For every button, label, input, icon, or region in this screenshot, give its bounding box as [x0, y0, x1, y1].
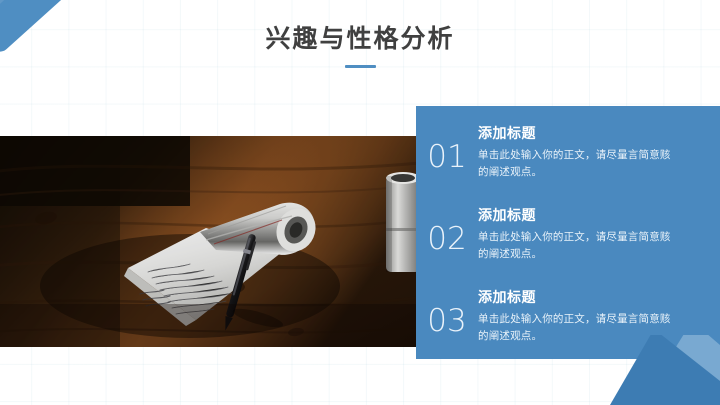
item-heading-03: 添加标题: [478, 289, 710, 307]
page-title: 兴趣与性格分析: [0, 26, 720, 54]
item-heading-01: 添加标题: [478, 125, 710, 143]
item-body-03: 单击此处输入你的正文，请尽量言简意赅的阐述观点。: [478, 311, 674, 346]
item-number-03: 03: [416, 289, 478, 337]
info-item-02[interactable]: 02 添加标题 单击此处输入你的正文，请尽量言简意赅的阐述观点。: [416, 207, 720, 263]
item-number-02: 02: [416, 207, 478, 255]
photo-wooden-desk: [0, 136, 417, 347]
item-body-02: 单击此处输入你的正文，请尽量言简意赅的阐述观点。: [478, 229, 674, 264]
item-text-01: 添加标题 单击此处输入你的正文，请尽量言简意赅的阐述观点。: [478, 125, 720, 181]
info-item-03[interactable]: 03 添加标题 单击此处输入你的正文，请尽量言简意赅的阐述观点。: [416, 289, 720, 345]
slide-canvas: 兴趣与性格分析: [0, 0, 720, 405]
title-block: 兴趣与性格分析: [0, 26, 720, 68]
photo-illustration: [0, 136, 417, 347]
item-number-01: 01: [416, 125, 478, 173]
item-body-01: 单击此处输入你的正文，请尽量言简意赅的阐述观点。: [478, 147, 674, 182]
info-item-01[interactable]: 01 添加标题 单击此处输入你的正文，请尽量言简意赅的阐述观点。: [416, 125, 720, 181]
item-text-03: 添加标题 单击此处输入你的正文，请尽量言简意赅的阐述观点。: [478, 289, 720, 345]
item-heading-02: 添加标题: [478, 207, 710, 225]
info-panel: 01 添加标题 单击此处输入你的正文，请尽量言简意赅的阐述观点。 02 添加标题…: [416, 106, 720, 359]
item-text-02: 添加标题 单击此处输入你的正文，请尽量言简意赅的阐述观点。: [478, 207, 720, 263]
title-underline-accent: [345, 65, 376, 68]
